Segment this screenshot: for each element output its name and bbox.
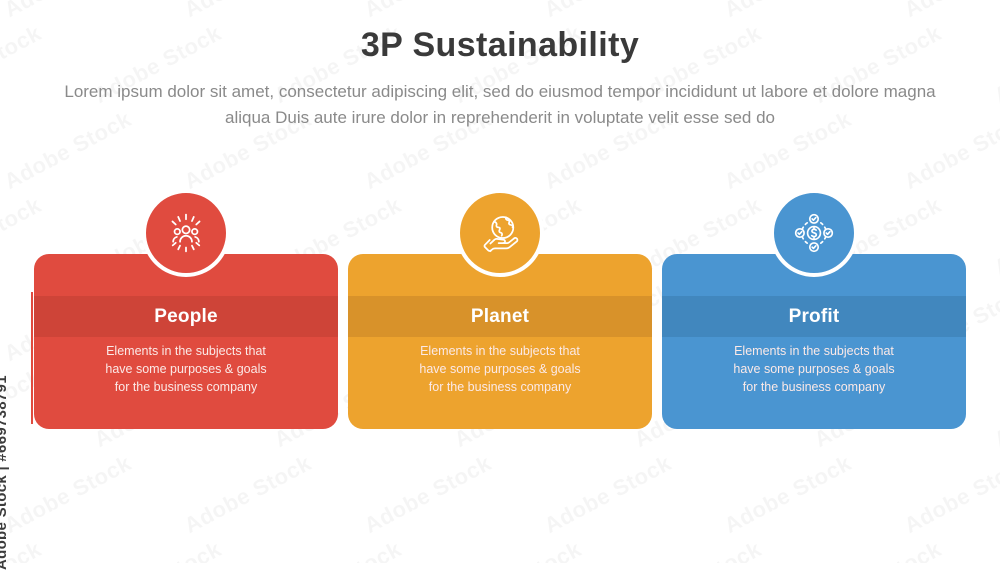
card-people[interactable]: People Elements in the subjects that hav… xyxy=(34,189,338,429)
card-description: Elements in the subjects that have some … xyxy=(34,342,338,396)
dollar-checkmarks-icon[interactable] xyxy=(770,189,858,277)
credit-accent-line xyxy=(31,292,33,424)
stock-credit-text: Adobe Stock | #669738791 xyxy=(0,375,10,570)
header: 3P Sustainability Lorem ipsum dolor sit … xyxy=(0,0,1000,131)
desc-line-3: for the business company xyxy=(348,378,652,396)
watermark-text: Adobe Stock xyxy=(720,450,856,539)
subtitle-line-1: Lorem ipsum dolor sit amet, consectetur … xyxy=(64,82,808,101)
card-profit[interactable]: Profit Elements in the subjects that hav… xyxy=(662,189,966,429)
globe-in-hand-icon[interactable] xyxy=(456,189,544,277)
watermark-text: Adobe Stock xyxy=(900,450,1000,539)
card-title: Planet xyxy=(348,296,652,337)
watermark-text: Adobe Stock xyxy=(450,536,586,563)
card-title: Profit xyxy=(662,296,966,337)
watermark-text: Adobe Stock xyxy=(990,192,1000,281)
watermark-text: Adobe Stock xyxy=(90,536,226,563)
people-group-icon[interactable] xyxy=(142,189,230,277)
desc-line-2: have some purposes & goals xyxy=(34,360,338,378)
watermark-text: Adobe Stock xyxy=(990,536,1000,563)
watermark-text: Adobe Stock xyxy=(630,536,766,563)
card-body: People Elements in the subjects that hav… xyxy=(34,254,338,429)
slide-canvas: Adobe StockAdobe StockAdobe StockAdobe S… xyxy=(0,0,1000,563)
watermark-text: Adobe Stock xyxy=(180,450,316,539)
desc-line-3: for the business company xyxy=(662,378,966,396)
card-title: People xyxy=(34,296,338,337)
card-description: Elements in the subjects that have some … xyxy=(348,342,652,396)
card-planet[interactable]: Planet Elements in the subjects that hav… xyxy=(348,189,652,429)
card-body: Profit Elements in the subjects that hav… xyxy=(662,254,966,429)
page-subtitle: Lorem ipsum dolor sit amet, consectetur … xyxy=(50,79,950,131)
desc-line-2: have some purposes & goals xyxy=(662,360,966,378)
watermark-text: Adobe Stock xyxy=(360,450,496,539)
card-body: Planet Elements in the subjects that hav… xyxy=(348,254,652,429)
watermark-text: Adobe Stock xyxy=(990,364,1000,453)
desc-line-1: Elements in the subjects that xyxy=(34,342,338,360)
cards-row: People Elements in the subjects that hav… xyxy=(34,189,966,429)
desc-line-2: have some purposes & goals xyxy=(348,360,652,378)
watermark-text: Adobe Stock xyxy=(270,536,406,563)
desc-line-1: Elements in the subjects that xyxy=(348,342,652,360)
desc-line-1: Elements in the subjects that xyxy=(662,342,966,360)
watermark-text: Adobe Stock xyxy=(540,450,676,539)
desc-line-3: for the business company xyxy=(34,378,338,396)
page-title: 3P Sustainability xyxy=(0,0,1000,65)
card-description: Elements in the subjects that have some … xyxy=(662,342,966,396)
watermark-text: Adobe Stock xyxy=(810,536,946,563)
